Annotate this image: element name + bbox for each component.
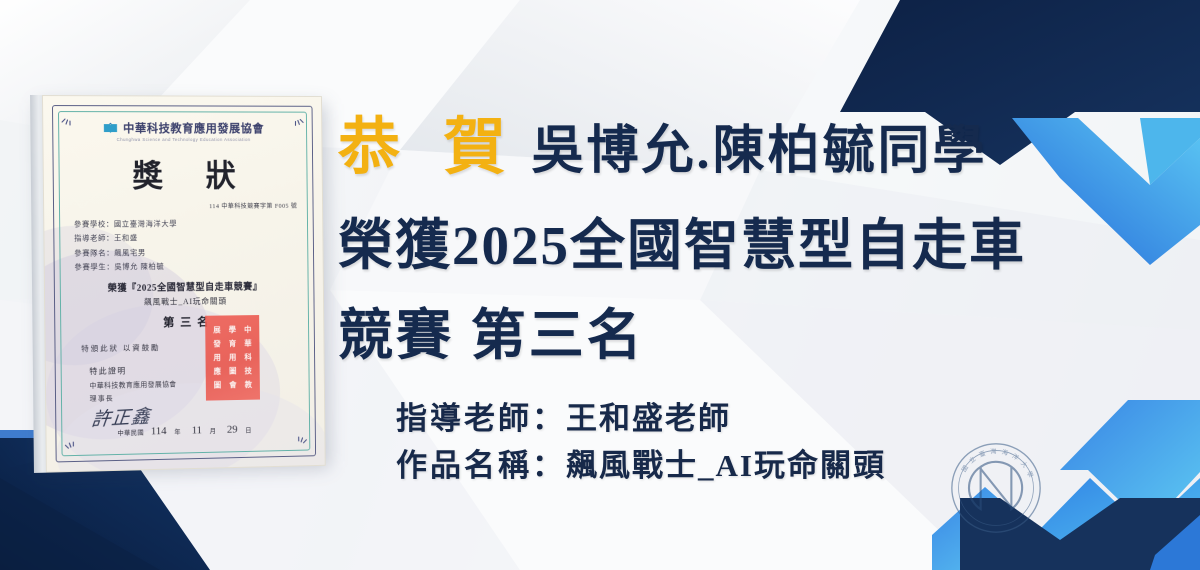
svg-text:灣: 灣: [990, 447, 997, 455]
seal-char: 用: [229, 354, 236, 362]
certificate-work-text: 飆風戰士_AI玩命關頭: [63, 295, 306, 309]
announcement-text-block: 恭 賀 吳博允.陳柏毓同學 榮獲2025全國智慧型自走車 競賽 第三名 指導老師…: [338, 96, 1200, 489]
ntou-seal-watermark-icon: 國 立 臺 灣 海 洋 大 學: [948, 440, 1044, 536]
work-name: 飆風戰士_AI玩命關頭: [566, 448, 886, 483]
seal-char: 學: [229, 326, 236, 334]
seal-char: 技: [244, 367, 251, 375]
certificate-red-seal: 展 發 用 應 圖 學 育 用 圖 會 中 華 科 技: [205, 315, 260, 401]
seal-column-1: 展 發 用 應 圖: [209, 320, 225, 395]
seal-column-2: 學 育 用 圖 會: [224, 320, 240, 395]
certificate-paper: 中華科技教育應用發展協會 Chunghwa Science and Techno…: [42, 95, 326, 473]
advisor-row: 指導老師：王和盛老師: [396, 396, 1200, 443]
svg-text:洋: 洋: [1011, 452, 1021, 462]
certificate-date-month-unit: 月: [210, 428, 217, 435]
certificate-award-text: 榮獲『2025全國智慧型自走車競賽』: [63, 278, 306, 294]
seal-char: 育: [229, 340, 236, 348]
certificate-org-name: 中華科技教育應用發展協會: [123, 120, 264, 136]
banner-stage: 中華科技教育應用發展協會 Chunghwa Science and Techno…: [0, 0, 1200, 570]
certificate-fields: 參賽學校：國立臺灣海洋大學 指導老師：王和盛 參賽隊名：飆風宅男 參賽學生：吳博…: [62, 216, 306, 275]
certificate-rank: 第三名: [63, 312, 306, 331]
achievement-line-1: 榮獲2025全國智慧型自走車: [338, 200, 1200, 280]
svg-text:海: 海: [1001, 448, 1009, 457]
seal-column-3: 中 華 科 技 教: [240, 320, 256, 395]
seal-char: 圖: [229, 368, 236, 376]
headline-row: 恭 賀 吳博允.陳柏毓同學: [338, 96, 1200, 186]
certificate-serial-number: 114 中華科技競賽字第 F005 號: [62, 201, 305, 211]
work-row: 作品名稱：飆風戰士_AI玩命關頭: [396, 443, 1200, 490]
certificate-issuer-org: 中華科技教育應用發展協會: [89, 377, 306, 391]
certificate-date-era: 中華民國: [117, 430, 144, 438]
seal-char: 用: [213, 354, 220, 362]
advisor-label: 指導老師：: [396, 401, 566, 436]
certificate-certify-text: 特此證明: [89, 362, 306, 377]
seal-char: 應: [214, 368, 221, 376]
student-names: 吳博允.陳柏毓同學: [532, 108, 988, 183]
certificate-encourage-text: 特頒此狀 以資鼓勵: [63, 340, 306, 355]
certificate-date-day: 29: [227, 424, 238, 436]
seal-char: 展: [213, 327, 220, 335]
certificate-field-students: 參賽學生：吳博允 陳柏毓: [74, 259, 305, 275]
credits-block: 指導老師：王和盛老師 作品名稱：飆風戰士_AI玩命關頭: [338, 396, 1200, 489]
achievement-line-2: 競賽 第三名: [338, 290, 1200, 370]
seal-char: 會: [229, 381, 236, 389]
seal-char: 圖: [214, 382, 221, 390]
seal-char: 華: [244, 340, 251, 348]
association-book-logo-icon: [102, 120, 118, 136]
svg-text:學: 學: [1025, 470, 1035, 479]
certificate-image: 中華科技教育應用發展協會 Chunghwa Science and Techno…: [30, 95, 326, 473]
certificate-date-year: 114: [151, 425, 167, 437]
seal-char: 中: [244, 326, 251, 334]
svg-text:臺: 臺: [978, 449, 987, 459]
certificate-title: 獎狀: [61, 151, 304, 196]
advisor-name: 王和盛老師: [566, 401, 731, 436]
work-label: 作品名稱：: [396, 448, 566, 483]
certificate-date-year-unit: 年: [174, 429, 181, 436]
seal-char: 科: [244, 354, 251, 362]
certificate-date-day-unit: 日: [245, 427, 252, 434]
seal-char: 教: [245, 381, 252, 389]
certificate-org-name-en: Chunghwa Science and Technology Educatio…: [61, 137, 304, 142]
certificate-field-school: 參賽學校：國立臺灣海洋大學: [74, 216, 305, 232]
certificate-date-month: 11: [192, 424, 202, 436]
seal-char: 發: [213, 340, 220, 348]
certificate-org-header: 中華科技教育應用發展協會: [61, 120, 304, 136]
congratulations-text: 恭 賀: [338, 96, 520, 186]
